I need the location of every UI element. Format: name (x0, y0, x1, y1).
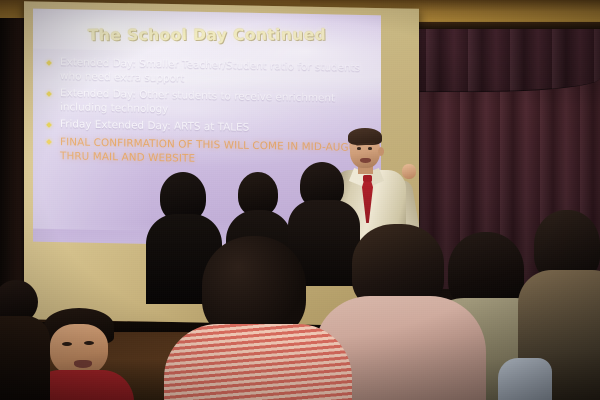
audience-member (172, 236, 342, 400)
child-eye-right (84, 341, 94, 345)
photo-scene: The School Day Continued Extended Day: S… (0, 0, 600, 400)
speaker-tie-knot (363, 175, 372, 182)
speaker-hand-right (402, 164, 416, 179)
slide-bullet-text: Extended Day: Smaller Teacher/Student ra… (60, 56, 360, 84)
audience-body (0, 316, 50, 400)
speaker-ear (378, 147, 384, 156)
speaker-mouth (360, 158, 371, 163)
child-face (50, 324, 108, 376)
slide-bullet-text: Extended Day: Other students to receive … (60, 87, 335, 115)
bullet-diamond-icon (46, 122, 52, 128)
bullet-diamond-icon (46, 60, 52, 66)
audience-member (0, 280, 46, 400)
speaker-eye-left (357, 147, 361, 150)
slide-bullet-item: Extended Day: Other students to receive … (46, 87, 375, 121)
slide-title: The School Day Continued (33, 26, 381, 45)
audience-body (164, 324, 352, 400)
speaker-eye-right (368, 147, 372, 150)
slide-bullet-text: Friday Extended Day: ARTS at TALES (60, 119, 249, 135)
slide-bullet-item: Extended Day: Smaller Teacher/Student ra… (46, 56, 375, 90)
audience-member (498, 358, 552, 400)
bullet-diamond-icon (46, 140, 52, 146)
bullet-diamond-icon (46, 91, 52, 97)
child-mouth (74, 360, 92, 368)
child-eye-left (62, 342, 72, 346)
